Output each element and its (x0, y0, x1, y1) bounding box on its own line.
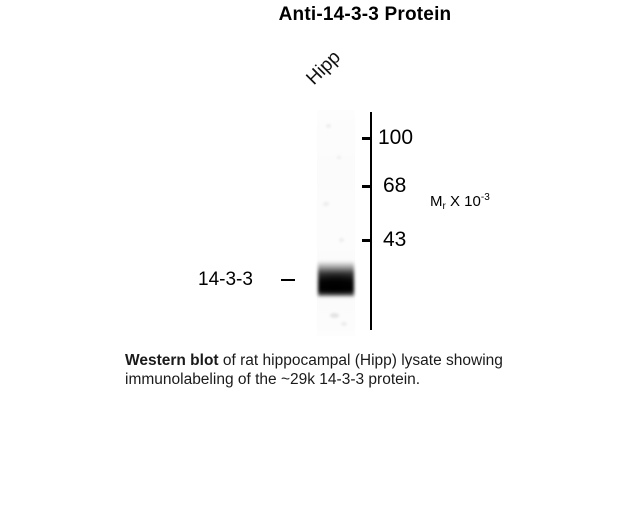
membrane-speck (323, 202, 329, 206)
band-pointer-dash-icon (281, 279, 295, 281)
molecular-weight-axis (370, 112, 372, 330)
protein-band-14-3-3 (318, 261, 354, 297)
mw-tick-68 (362, 185, 371, 188)
figure-caption-lead: Western blot (125, 352, 219, 369)
mw-axis-exponent: -3 (481, 192, 490, 203)
mw-axis-caption: Mr X 10-3 (430, 192, 490, 212)
membrane-speck (341, 322, 347, 326)
lane-label-hipp: Hipp (302, 47, 345, 90)
mw-tick-100 (362, 137, 371, 140)
western-blot-figure: Hipp 100 68 43 Mr X 10-3 14-3-3 (0, 0, 640, 512)
blot-lane-hipp (317, 110, 355, 336)
mw-label-68: 68 (383, 175, 406, 196)
mw-axis-symbol: M (430, 193, 443, 210)
membrane-speck (330, 313, 339, 318)
membrane-speck (326, 124, 331, 128)
band-annotation-label: 14-3-3 (198, 269, 253, 291)
mw-label-100: 100 (378, 127, 413, 148)
mw-label-43: 43 (383, 229, 406, 250)
membrane-speck (337, 156, 341, 159)
mw-tick-43 (362, 239, 371, 242)
membrane-speck (339, 238, 344, 242)
figure-caption: Western blot of rat hippocampal (Hipp) l… (125, 351, 595, 389)
mw-axis-multiplier: X 10 (446, 193, 481, 210)
